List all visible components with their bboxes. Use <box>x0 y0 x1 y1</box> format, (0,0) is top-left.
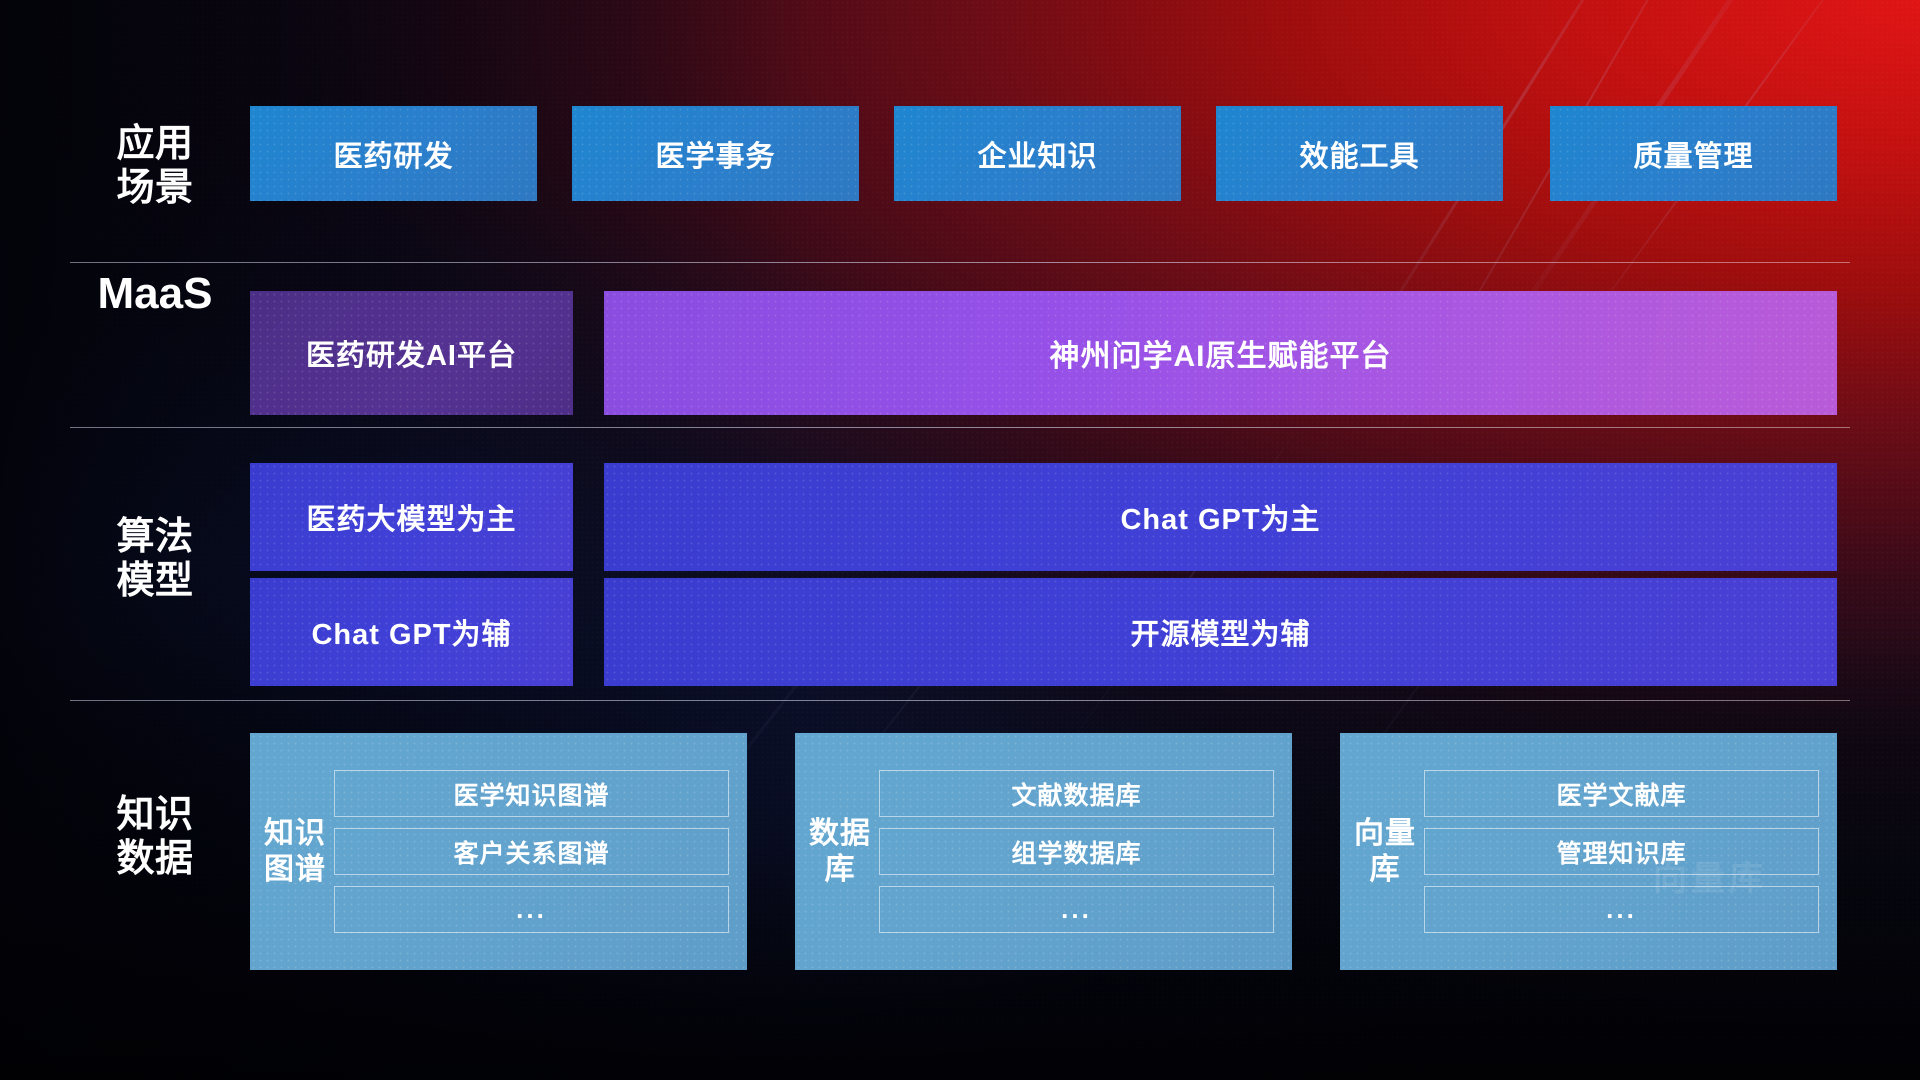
knowledge-group-title: 知识图谱 <box>264 816 326 887</box>
knowledge-item[interactable]: 医学文献库 <box>1424 770 1819 817</box>
knowledge-group-items: 医学知识图谱 客户关系图谱 ... <box>334 770 729 933</box>
row-label-knowledge: 知识 数据 <box>70 793 240 881</box>
row-label-application: 应用 场景 <box>70 122 240 210</box>
algorithm-box-label: 开源模型为辅 <box>1130 611 1310 653</box>
architecture-diagram: 应用 场景 医药研发 医学事务 企业知识 效能工具 质量管理 MaaS 医药研发… <box>0 0 1920 1080</box>
app-box-label: 企业知识 <box>977 133 1097 175</box>
knowledge-group-database[interactable]: 数据库 文献数据库 组学数据库 ... <box>795 733 1292 970</box>
app-box-drug-rd[interactable]: 医药研发 <box>250 106 537 201</box>
row-label-algorithm: 算法 模型 <box>70 515 240 603</box>
maas-box-shenzhou-wenxue-platform[interactable]: 神州问学AI原生赋能平台 <box>604 291 1837 415</box>
knowledge-item[interactable]: 医学知识图谱 <box>334 770 729 817</box>
divider-application-maas <box>70 262 1850 263</box>
divider-maas-algorithm <box>70 427 1850 428</box>
app-box-medical-affairs[interactable]: 医学事务 <box>572 106 859 201</box>
algorithm-box-chatgpt-primary[interactable]: Chat GPT为主 <box>604 463 1837 571</box>
app-box-label: 质量管理 <box>1633 133 1753 175</box>
algorithm-box-label: 医药大模型为主 <box>306 496 516 538</box>
app-box-quality-management[interactable]: 质量管理 <box>1550 106 1837 201</box>
knowledge-item-more[interactable]: ... <box>334 886 729 933</box>
algorithm-box-label: Chat GPT为主 <box>1120 496 1320 538</box>
knowledge-group-title: 向量库 <box>1354 816 1416 887</box>
knowledge-group-vector-store[interactable]: 向量库 向量库 医学文献库 管理知识库 ... <box>1340 733 1837 970</box>
algorithm-box-pharma-large-model-primary[interactable]: 医药大模型为主 <box>250 463 573 571</box>
knowledge-item[interactable]: 客户关系图谱 <box>334 828 729 875</box>
maas-box-drug-rd-ai-platform[interactable]: 医药研发AI平台 <box>250 291 573 415</box>
knowledge-group-items: 医学文献库 管理知识库 ... <box>1424 770 1819 933</box>
divider-algorithm-knowledge <box>70 700 1850 701</box>
knowledge-item-more[interactable]: ... <box>879 886 1274 933</box>
app-box-efficiency-tools[interactable]: 效能工具 <box>1216 106 1503 201</box>
app-box-label: 医药研发 <box>333 133 453 175</box>
knowledge-item-more[interactable]: ... <box>1424 886 1819 933</box>
knowledge-item[interactable]: 组学数据库 <box>879 828 1274 875</box>
knowledge-group-title: 数据库 <box>809 816 871 887</box>
algorithm-box-chatgpt-secondary[interactable]: Chat GPT为辅 <box>250 578 573 686</box>
knowledge-group-items: 文献数据库 组学数据库 ... <box>879 770 1274 933</box>
row-label-maas: MaaS <box>70 268 240 319</box>
maas-box-label: 神州问学AI原生赋能平台 <box>1050 331 1392 375</box>
app-box-label: 医学事务 <box>655 133 775 175</box>
knowledge-item[interactable]: 文献数据库 <box>879 770 1274 817</box>
algorithm-box-open-source-secondary[interactable]: 开源模型为辅 <box>604 578 1837 686</box>
app-box-label: 效能工具 <box>1299 133 1419 175</box>
maas-box-label: 医药研发AI平台 <box>306 332 517 374</box>
knowledge-item[interactable]: 管理知识库 <box>1424 828 1819 875</box>
algorithm-box-label: Chat GPT为辅 <box>311 611 511 653</box>
app-box-enterprise-knowledge[interactable]: 企业知识 <box>894 106 1181 201</box>
knowledge-group-knowledge-graph[interactable]: 知识图谱 医学知识图谱 客户关系图谱 ... <box>250 733 747 970</box>
